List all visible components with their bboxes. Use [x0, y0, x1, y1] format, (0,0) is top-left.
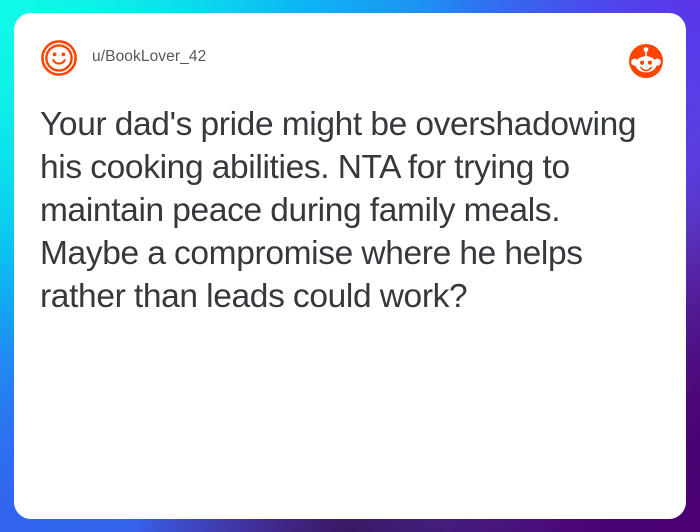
username-label: u/BookLover_42 — [92, 48, 206, 66]
card-header: u/BookLover_42 — [14, 13, 686, 103]
smiley-face-avatar-icon[interactable] — [40, 39, 78, 77]
comment-text: Your dad's pride might be overshadowing … — [40, 103, 660, 318]
reddit-comment-card: u/BookLover_42 Your dad's pride might be… — [14, 13, 686, 519]
reddit-snoo-logo-icon[interactable] — [628, 43, 664, 79]
card-body: Your dad's pride might be overshadowing … — [14, 103, 686, 318]
